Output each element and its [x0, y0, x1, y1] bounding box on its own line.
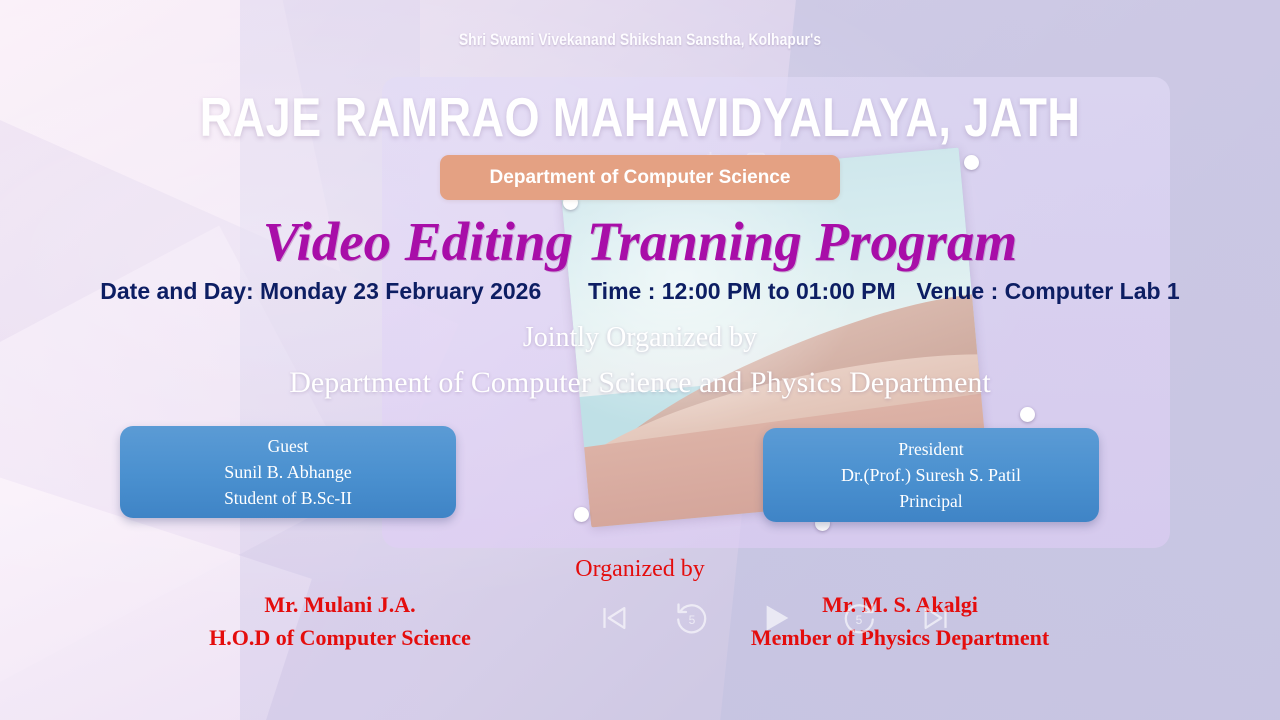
svg-text:5: 5	[688, 613, 695, 627]
guest-role: Guest	[268, 433, 309, 459]
organizer-left: Mr. Mulani J.A. H.O.D of Computer Scienc…	[185, 588, 495, 654]
rewind-5-button[interactable]: 5	[669, 595, 715, 641]
previous-track-button[interactable]	[590, 595, 636, 641]
event-title: Video Editing Tranning Program	[0, 210, 1280, 274]
slide-canvas: Shri Swami Vivekanand Shikshan Sanstha, …	[0, 0, 1280, 720]
college-title: RAJE RAMRAO MAHAVIDYALAYA, JATH	[115, 88, 1165, 146]
organization-name: Shri Swami Vivekanand Shikshan Sanstha, …	[102, 31, 1177, 50]
resize-handle-top-right[interactable]	[964, 155, 979, 170]
organizer-left-designation: H.O.D of Computer Science	[185, 621, 495, 654]
svg-text:5: 5	[855, 613, 862, 627]
department-banner: Department of Computer Science	[440, 155, 840, 200]
president-card: President Dr.(Prof.) Suresh S. Patil Pri…	[763, 428, 1099, 522]
guest-name: Sunil B. Abhange	[224, 459, 352, 485]
president-name: Dr.(Prof.) Suresh S. Patil	[841, 462, 1021, 488]
forward-5-button[interactable]: 5	[836, 595, 882, 641]
next-track-button[interactable]	[914, 595, 960, 641]
event-details: Date and Day: Monday 23 February 2026 Ti…	[0, 278, 1280, 305]
playback-controls[interactable]: 5 5	[590, 590, 960, 646]
organizer-left-name: Mr. Mulani J.A.	[185, 588, 495, 621]
event-date: Date and Day: Monday 23 February 2026	[100, 278, 541, 304]
president-designation: Principal	[899, 488, 962, 514]
resize-handle-bottom-right[interactable]	[1020, 407, 1035, 422]
guest-card: Guest Sunil B. Abhange Student of B.Sc-I…	[120, 426, 456, 518]
event-time: Time : 12:00 PM to 01:00 PM	[588, 278, 896, 304]
president-role: President	[898, 436, 963, 462]
organized-by-label: Organized by	[0, 556, 1280, 583]
guest-designation: Student of B.Sc-II	[224, 485, 352, 511]
department-banner-label: Department of Computer Science	[490, 167, 791, 189]
jointly-organized-departments: Department of Computer Science and Physi…	[0, 366, 1280, 400]
resize-handle-bottom-left[interactable]	[574, 507, 589, 522]
jointly-organized-label: Jointly Organized by	[0, 322, 1280, 354]
event-venue: Venue : Computer Lab 1	[916, 278, 1179, 304]
play-button[interactable]	[747, 590, 803, 646]
